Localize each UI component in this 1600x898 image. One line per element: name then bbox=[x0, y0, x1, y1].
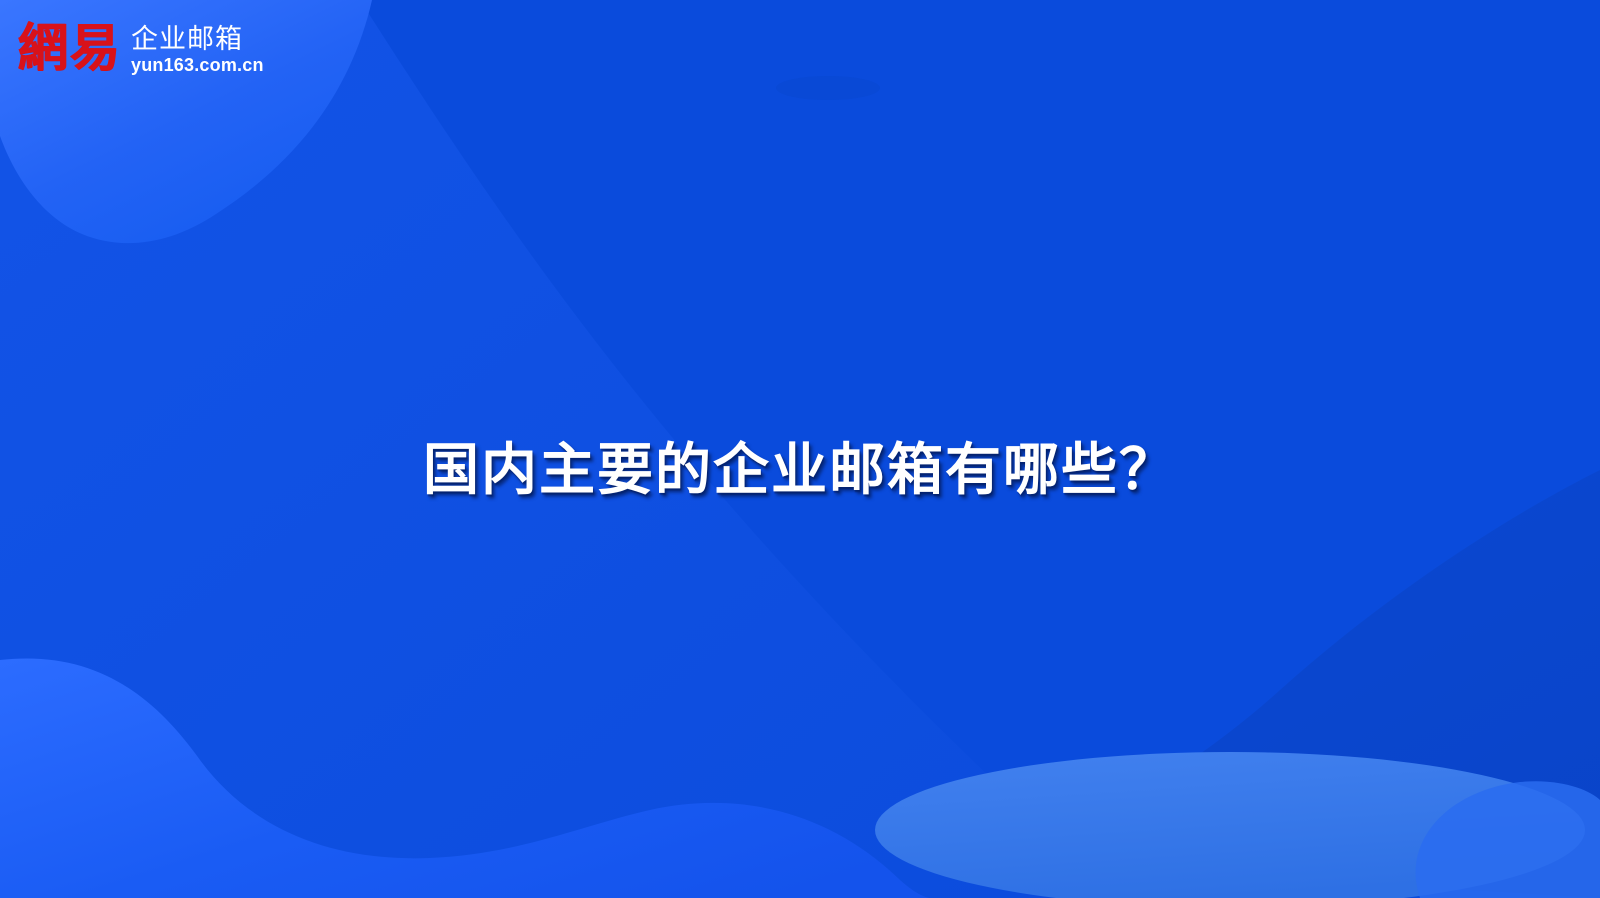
logo-url: yun163.com.cn bbox=[131, 55, 264, 76]
brand-logo[interactable]: 網易 企业邮箱 yun163.com.cn bbox=[18, 22, 264, 76]
logo-product-name: 企业邮箱 bbox=[131, 24, 264, 54]
headline-container: 国内主要的企业邮箱有哪些？ bbox=[0, 396, 1600, 543]
faint-watermark-shape bbox=[776, 76, 880, 100]
slide-canvas: 網易 企业邮箱 yun163.com.cn 国内主要的企业邮箱有哪些？ bbox=[0, 0, 1600, 898]
netease-wordmark-icon: 網易 bbox=[18, 21, 122, 74]
logo-text-block: 企业邮箱 yun163.com.cn bbox=[131, 22, 264, 76]
slide-title: 国内主要的企业邮箱有哪些？ bbox=[423, 434, 1177, 506]
